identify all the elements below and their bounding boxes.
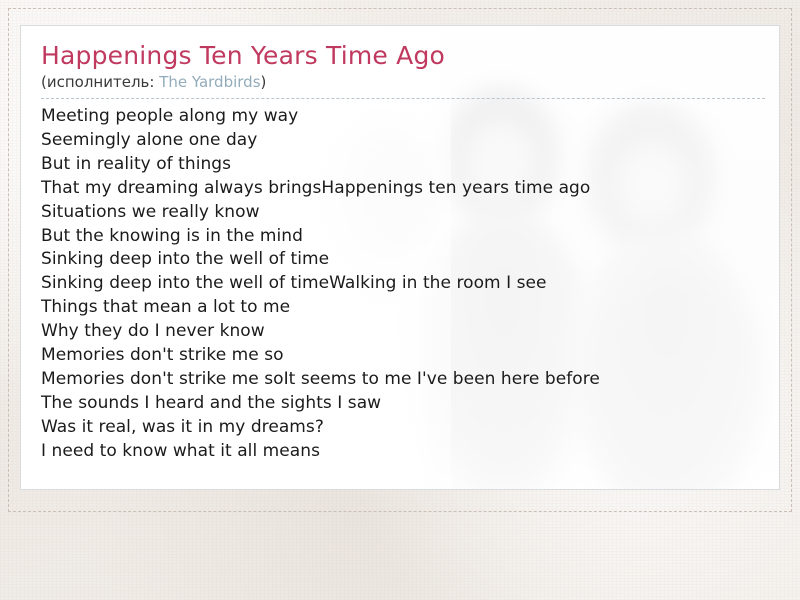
lyric-line: I need to know what it all means: [41, 440, 771, 464]
lyric-line: Meeting people along my way: [41, 105, 771, 129]
lyrics-body: Meeting people along my waySeemingly alo…: [41, 105, 771, 464]
lyric-line: Why they do I never know: [41, 320, 771, 344]
page-title: Happenings Ten Years Time Ago: [41, 41, 765, 71]
lyric-line: Sinking deep into the well of time: [41, 248, 771, 272]
artist-link[interactable]: The Yardbirds: [159, 73, 260, 91]
lyric-line: Was it real, was it in my dreams?: [41, 416, 771, 440]
lyric-line: Memories don't strike me so: [41, 344, 771, 368]
lyrics-content-panel: Happenings Ten Years Time Ago (исполните…: [20, 25, 780, 490]
lyric-line: Memories don't strike me soIt seems to m…: [41, 368, 771, 392]
artist-suffix-label: ): [261, 73, 267, 91]
lyric-line: Things that mean a lot to me: [41, 296, 771, 320]
lyric-line: Sinking deep into the well of timeWalkin…: [41, 272, 771, 296]
lyric-line: Situations we really know: [41, 201, 771, 225]
lyric-line: That my dreaming always bringsHappenings…: [41, 177, 771, 201]
artist-prefix-label: (исполнитель:: [41, 73, 159, 91]
lyric-line: Seemingly alone one day: [41, 129, 771, 153]
artist-line: (исполнитель: The Yardbirds): [41, 72, 765, 92]
lyric-line: But in reality of things: [41, 153, 771, 177]
lyric-line: The sounds I heard and the sights I saw: [41, 392, 771, 416]
lyric-line: But the knowing is in the mind: [41, 225, 771, 249]
song-header: Happenings Ten Years Time Ago (исполните…: [41, 41, 765, 99]
